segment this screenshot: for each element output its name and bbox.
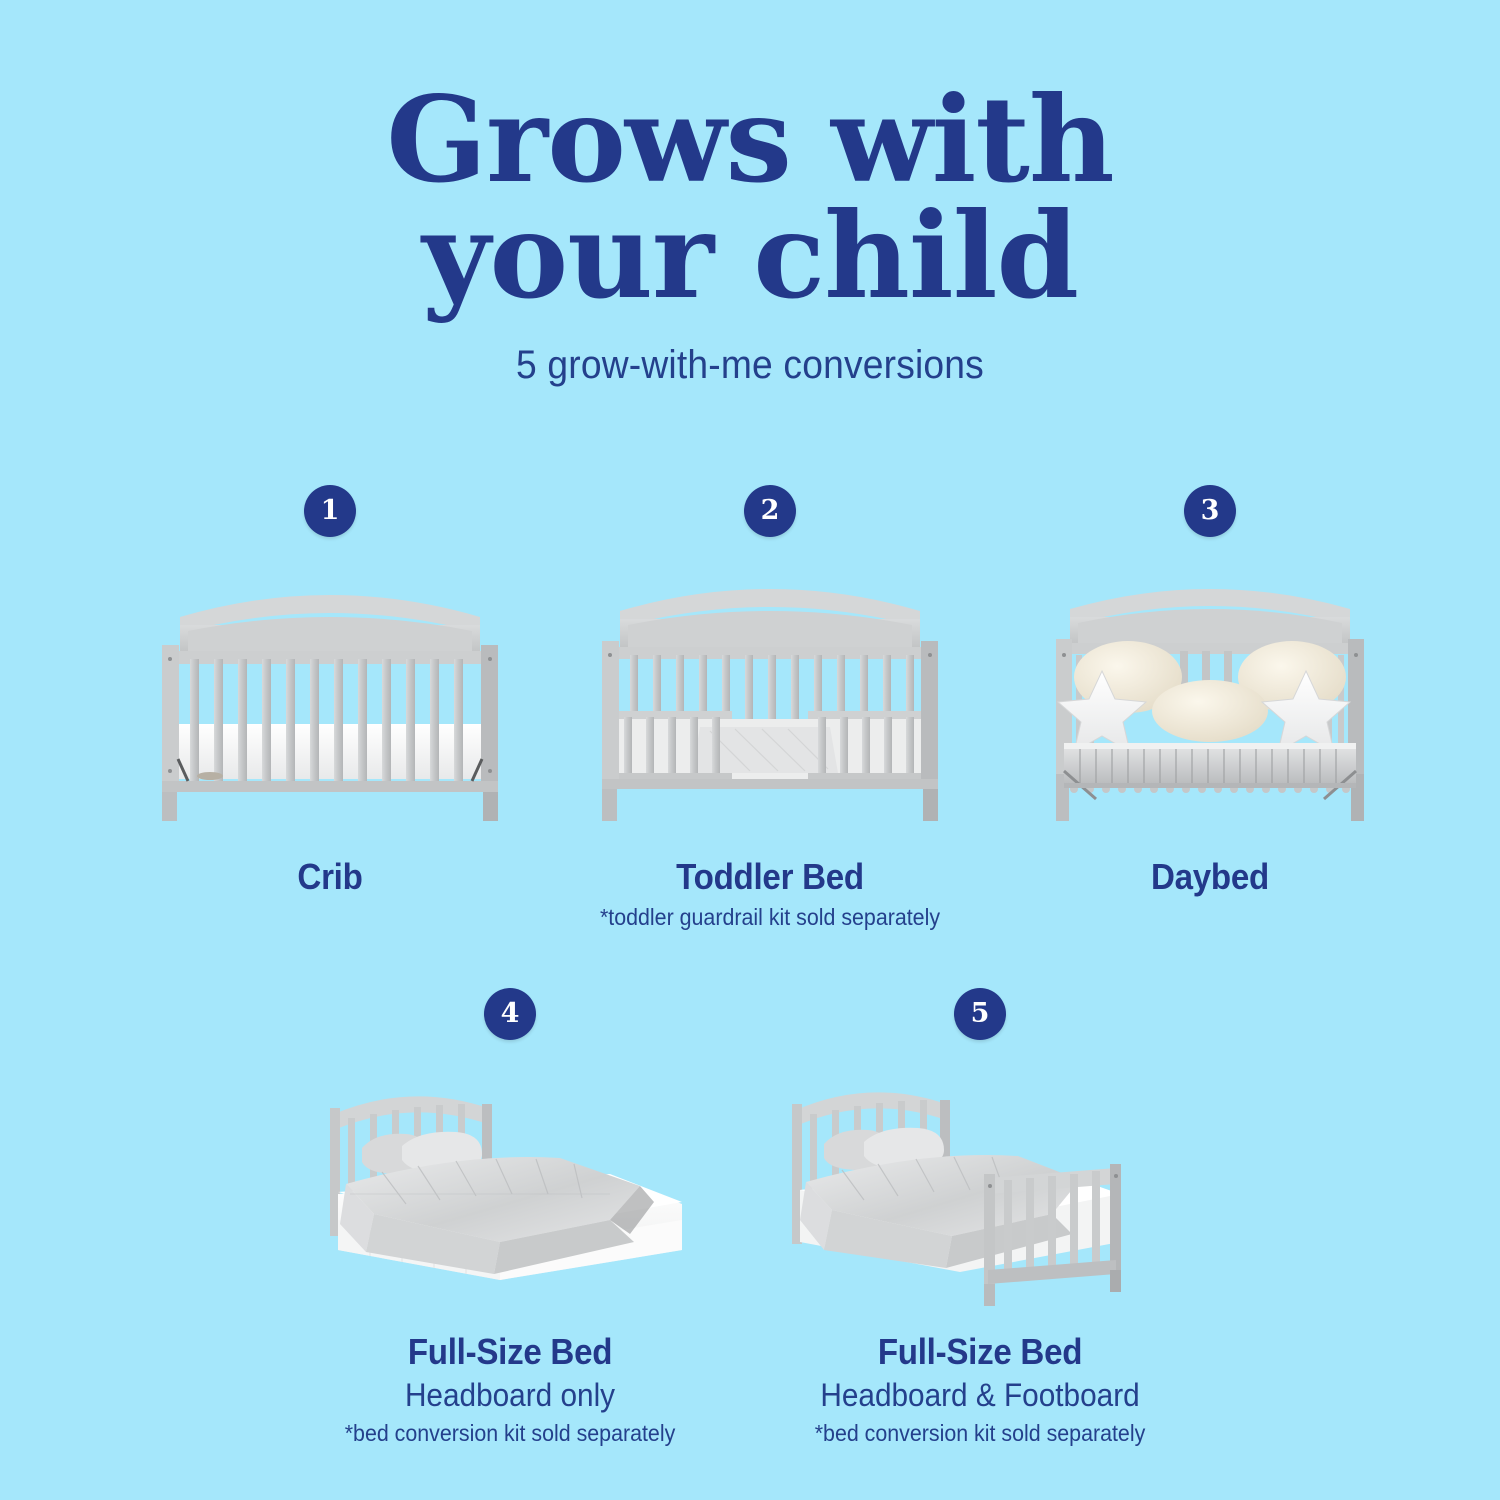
conversion-label-full-bed-headboard: Full-Size Bed — [303, 1331, 717, 1373]
conversion-footnote-full-bed-headboard-footboard: *bed conversion kit sold separately — [771, 1420, 1190, 1447]
conversion-label-daybed: Daybed — [1003, 856, 1417, 898]
conversion-item-full-bed-headboard: 4 — [285, 988, 735, 1447]
conversion-sublabel-full-bed-headboard-footboard: Headboard & Footboard — [771, 1377, 1190, 1414]
conversion-footnote-full-bed-headboard: *bed conversion kit sold separately — [301, 1420, 720, 1447]
conversion-item-full-bed-headboard-footboard: 5 — [755, 988, 1205, 1447]
conversion-footnote-toddler-bed: *toddler guardrail kit sold separately — [561, 904, 980, 931]
daybed-illustration — [1020, 559, 1400, 824]
header: Grows with your child 5 grow-with-me con… — [0, 0, 1500, 388]
conversion-item-toddler-bed: 2 — [545, 485, 995, 931]
crib-illustration — [140, 559, 520, 824]
page-title: Grows with your child — [0, 0, 1500, 313]
title-line-2: your child — [0, 198, 1500, 314]
full-bed-headboard-illustration — [310, 1074, 710, 1309]
step-badge-5: 5 — [954, 988, 1006, 1040]
conversion-sublabel-full-bed-headboard: Headboard only — [301, 1377, 720, 1414]
conversion-label-toddler-bed: Toddler Bed — [563, 856, 977, 898]
step-badge-2: 2 — [744, 485, 796, 537]
conversion-item-crib: 1 — [105, 485, 555, 898]
infographic-canvas: Grows with your child 5 grow-with-me con… — [0, 0, 1500, 1500]
conversion-label-full-bed-headboard-footboard: Full-Size Bed — [773, 1331, 1187, 1373]
step-badge-3: 3 — [1184, 485, 1236, 537]
step-badge-4: 4 — [484, 988, 536, 1040]
step-badge-1: 1 — [304, 485, 356, 537]
conversion-label-crib: Crib — [123, 856, 537, 898]
toddler-bed-illustration — [580, 559, 960, 824]
conversion-item-daybed: 3 — [985, 485, 1435, 898]
page-subtitle: 5 grow-with-me conversions — [53, 313, 1448, 388]
full-bed-headboard-footboard-illustration — [780, 1074, 1180, 1309]
